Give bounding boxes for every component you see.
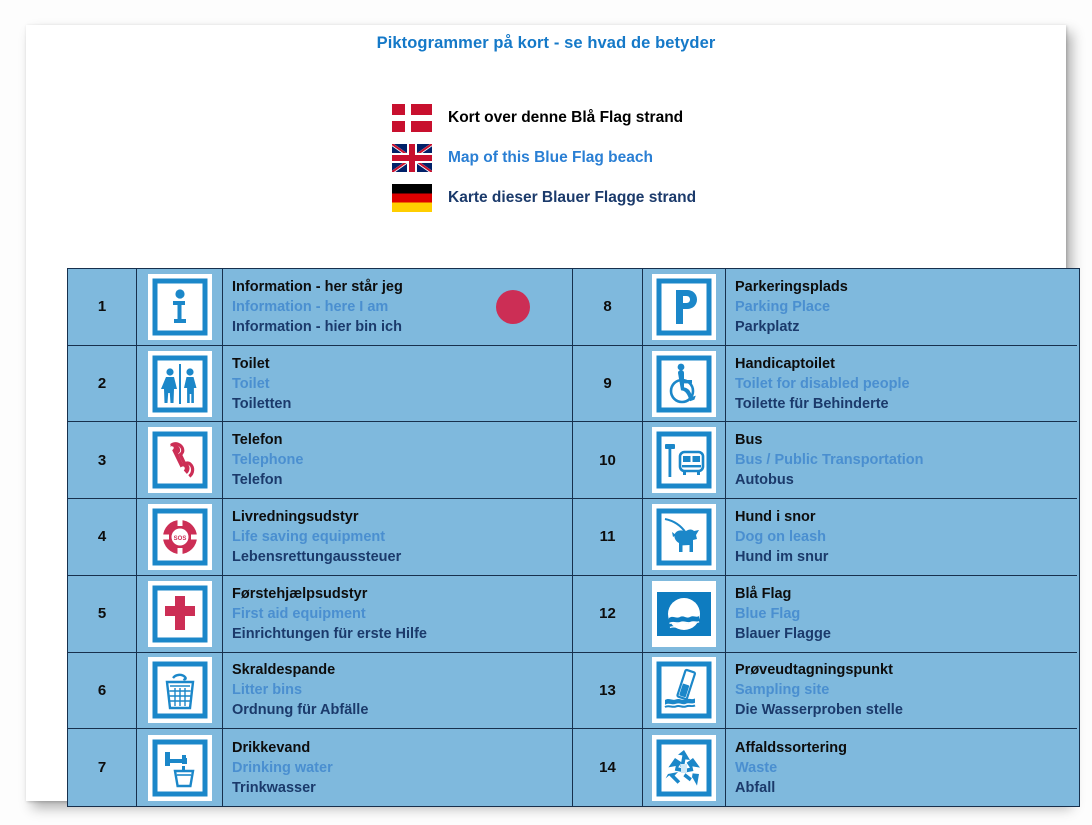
legend-label-german: Blauer Flagge: [735, 624, 831, 644]
legend-label-german: Autobus: [735, 470, 794, 490]
legend-text-cell: Hund i snorDog on leashHund im snur: [726, 499, 1077, 576]
legend-label-german: Ordnung für Abfälle: [232, 700, 368, 720]
legend-label-german: Information - hier bin ich: [232, 317, 402, 337]
legend-label-danish: Førstehjælpsudstyr: [232, 584, 367, 604]
legend-number-cell: 2: [68, 346, 137, 423]
legend-number-cell: 13: [573, 653, 643, 730]
legend-number-cell: 11: [573, 499, 643, 576]
denmark-flag-icon: [392, 104, 432, 132]
legend-text-cell: SkraldespandeLitter binsOrdnung für Abfä…: [223, 653, 573, 730]
legend-icon-cell: [643, 576, 726, 653]
legend-label-german: Telefon: [232, 470, 282, 490]
legend-label-danish: Bus: [735, 430, 762, 450]
legend-icon-cell: [643, 269, 726, 346]
legend-label-german: Toilette für Behinderte: [735, 394, 889, 414]
legend-label-danish: Prøveudtagningspunkt: [735, 660, 893, 680]
legend-label-danish: Hund i snor: [735, 507, 816, 527]
legend-text-cell: FørstehjælpsudstyrFirst aid equipmentEin…: [223, 576, 573, 653]
legend-text-cell: Information - her står jegInformation - …: [223, 269, 573, 346]
legend-card: Piktogrammer på kort - se hvad de betyde…: [26, 25, 1066, 801]
legend-icon-cell: [137, 346, 223, 423]
legend-label-danish: Drikkevand: [232, 738, 310, 758]
legend-label-german: Lebensrettungaussteuer: [232, 547, 401, 567]
legend-number-cell: 5: [68, 576, 137, 653]
legend-label-english: Waste: [735, 758, 777, 778]
legend-label-english: Dog on leash: [735, 527, 826, 547]
legend-number-cell: 9: [573, 346, 643, 423]
sampling-site-icon: [652, 657, 716, 723]
legend-label-english: Blue Flag: [735, 604, 800, 624]
drinking-water-icon: [148, 735, 212, 801]
legend-label-english: Life saving equipment: [232, 527, 385, 547]
legend-number-cell: 4: [68, 499, 137, 576]
legend-number-cell: 12: [573, 576, 643, 653]
legend-icon-cell: SOS: [137, 499, 223, 576]
legend-icon-cell: [643, 422, 726, 499]
pictogram-legend-table: 1Information - her står jegInformation -…: [67, 268, 1080, 807]
legend-text-cell: BusBus / Public TransportationAutobus: [726, 422, 1077, 499]
legend-icon-cell: [137, 269, 223, 346]
legend-label-english: Information - here I am: [232, 297, 388, 317]
legend-label-danish: Toilet: [232, 354, 270, 374]
legend-label-english: Toilet for disabled people: [735, 374, 910, 394]
wheelchair-icon: [652, 351, 716, 417]
legend-icon-cell: [643, 653, 726, 730]
legend-label-danish: Livredningsudstyr: [232, 507, 359, 527]
legend-label-danish: Affaldssortering: [735, 738, 847, 758]
legend-text-cell: ParkeringspladsParking PlaceParkplatz: [726, 269, 1077, 346]
legend-label-danish: Parkeringsplads: [735, 277, 848, 297]
legend-number-cell: 14: [573, 729, 643, 806]
legend-text-cell: LivredningsudstyrLife saving equipmentLe…: [223, 499, 573, 576]
litter-bin-icon: [148, 657, 212, 723]
parking-icon: [652, 274, 716, 340]
legend-label-danish: Handicaptoilet: [735, 354, 835, 374]
page-root: Piktogrammer på kort - se hvad de betyde…: [0, 0, 1092, 825]
legend-number-cell: 6: [68, 653, 137, 730]
legend-label-english: Litter bins: [232, 680, 302, 700]
blue-flag-icon: [652, 581, 716, 647]
map-link-danish[interactable]: Kort over denne Blå Flag strand: [392, 98, 696, 138]
legend-label-danish: Information - her står jeg: [232, 277, 403, 297]
telephone-icon: [148, 427, 212, 493]
legend-label-english: Bus / Public Transportation: [735, 450, 924, 470]
legend-number-cell: 3: [68, 422, 137, 499]
legend-label-german: Toiletten: [232, 394, 291, 414]
legend-number-cell: 10: [573, 422, 643, 499]
legend-icon-cell: [643, 499, 726, 576]
legend-icon-cell: [137, 422, 223, 499]
bus-icon: [652, 427, 716, 493]
legend-label-english: Sampling site: [735, 680, 829, 700]
legend-label-english: Telephone: [232, 450, 303, 470]
legend-icon-cell: [643, 729, 726, 806]
legend-label-english: Toilet: [232, 374, 270, 394]
first-aid-icon: [148, 581, 212, 647]
legend-label-english: First aid equipment: [232, 604, 366, 624]
uk-flag-icon: [392, 144, 432, 172]
recycling-icon: [652, 735, 716, 801]
legend-icon-cell: [137, 729, 223, 806]
legend-label-danish: Skraldespande: [232, 660, 335, 680]
legend-text-cell: HandicaptoiletToilet for disabled people…: [726, 346, 1077, 423]
legend-text-cell: TelefonTelephoneTelefon: [223, 422, 573, 499]
dog-leash-icon: [652, 504, 716, 570]
legend-label-english: Drinking water: [232, 758, 333, 778]
legend-label-german: Einrichtungen für erste Hilfe: [232, 624, 427, 644]
legend-label-german: Abfall: [735, 778, 775, 798]
legend-label-german: Hund im snur: [735, 547, 828, 567]
legend-number-cell: 7: [68, 729, 137, 806]
germany-flag-icon: [392, 184, 432, 212]
map-link-label-german: Karte dieser Blauer Flagge strand: [448, 189, 696, 207]
legend-text-cell: DrikkevandDrinking waterTrinkwasser: [223, 729, 573, 806]
map-link-label-danish: Kort over denne Blå Flag strand: [448, 109, 683, 127]
map-link-german[interactable]: Karte dieser Blauer Flagge strand: [392, 178, 696, 218]
map-link-english[interactable]: Map of this Blue Flag beach: [392, 138, 696, 178]
legend-text-cell: Blå FlagBlue FlagBlauer Flagge: [726, 576, 1077, 653]
you-are-here-marker-dot: [496, 290, 530, 324]
legend-label-german: Die Wasserproben stelle: [735, 700, 903, 720]
legend-icon-cell: [137, 653, 223, 730]
legend-icon-cell: [643, 346, 726, 423]
svg-text:SOS: SOS: [173, 536, 186, 542]
legend-label-german: Parkplatz: [735, 317, 799, 337]
legend-label-danish: Telefon: [232, 430, 282, 450]
toilet-icon: [148, 351, 212, 417]
information-icon: [148, 274, 212, 340]
legend-label-danish: Blå Flag: [735, 584, 791, 604]
map-links-block: Kort over denne Blå Flag strand Map of t…: [392, 98, 696, 218]
legend-text-cell: ToiletToiletToiletten: [223, 346, 573, 423]
legend-icon-cell: [137, 576, 223, 653]
legend-label-german: Trinkwasser: [232, 778, 316, 798]
legend-label-english: Parking Place: [735, 297, 830, 317]
lifebuoy-icon: SOS: [148, 504, 212, 570]
map-link-label-english: Map of this Blue Flag beach: [448, 149, 653, 167]
legend-text-cell: PrøveudtagningspunktSampling siteDie Was…: [726, 653, 1077, 730]
legend-text-cell: AffaldssorteringWasteAbfall: [726, 729, 1077, 806]
legend-number-cell: 8: [573, 269, 643, 346]
legend-number-cell: 1: [68, 269, 137, 346]
page-title: Piktogrammer på kort - se hvad de betyde…: [26, 34, 1066, 53]
